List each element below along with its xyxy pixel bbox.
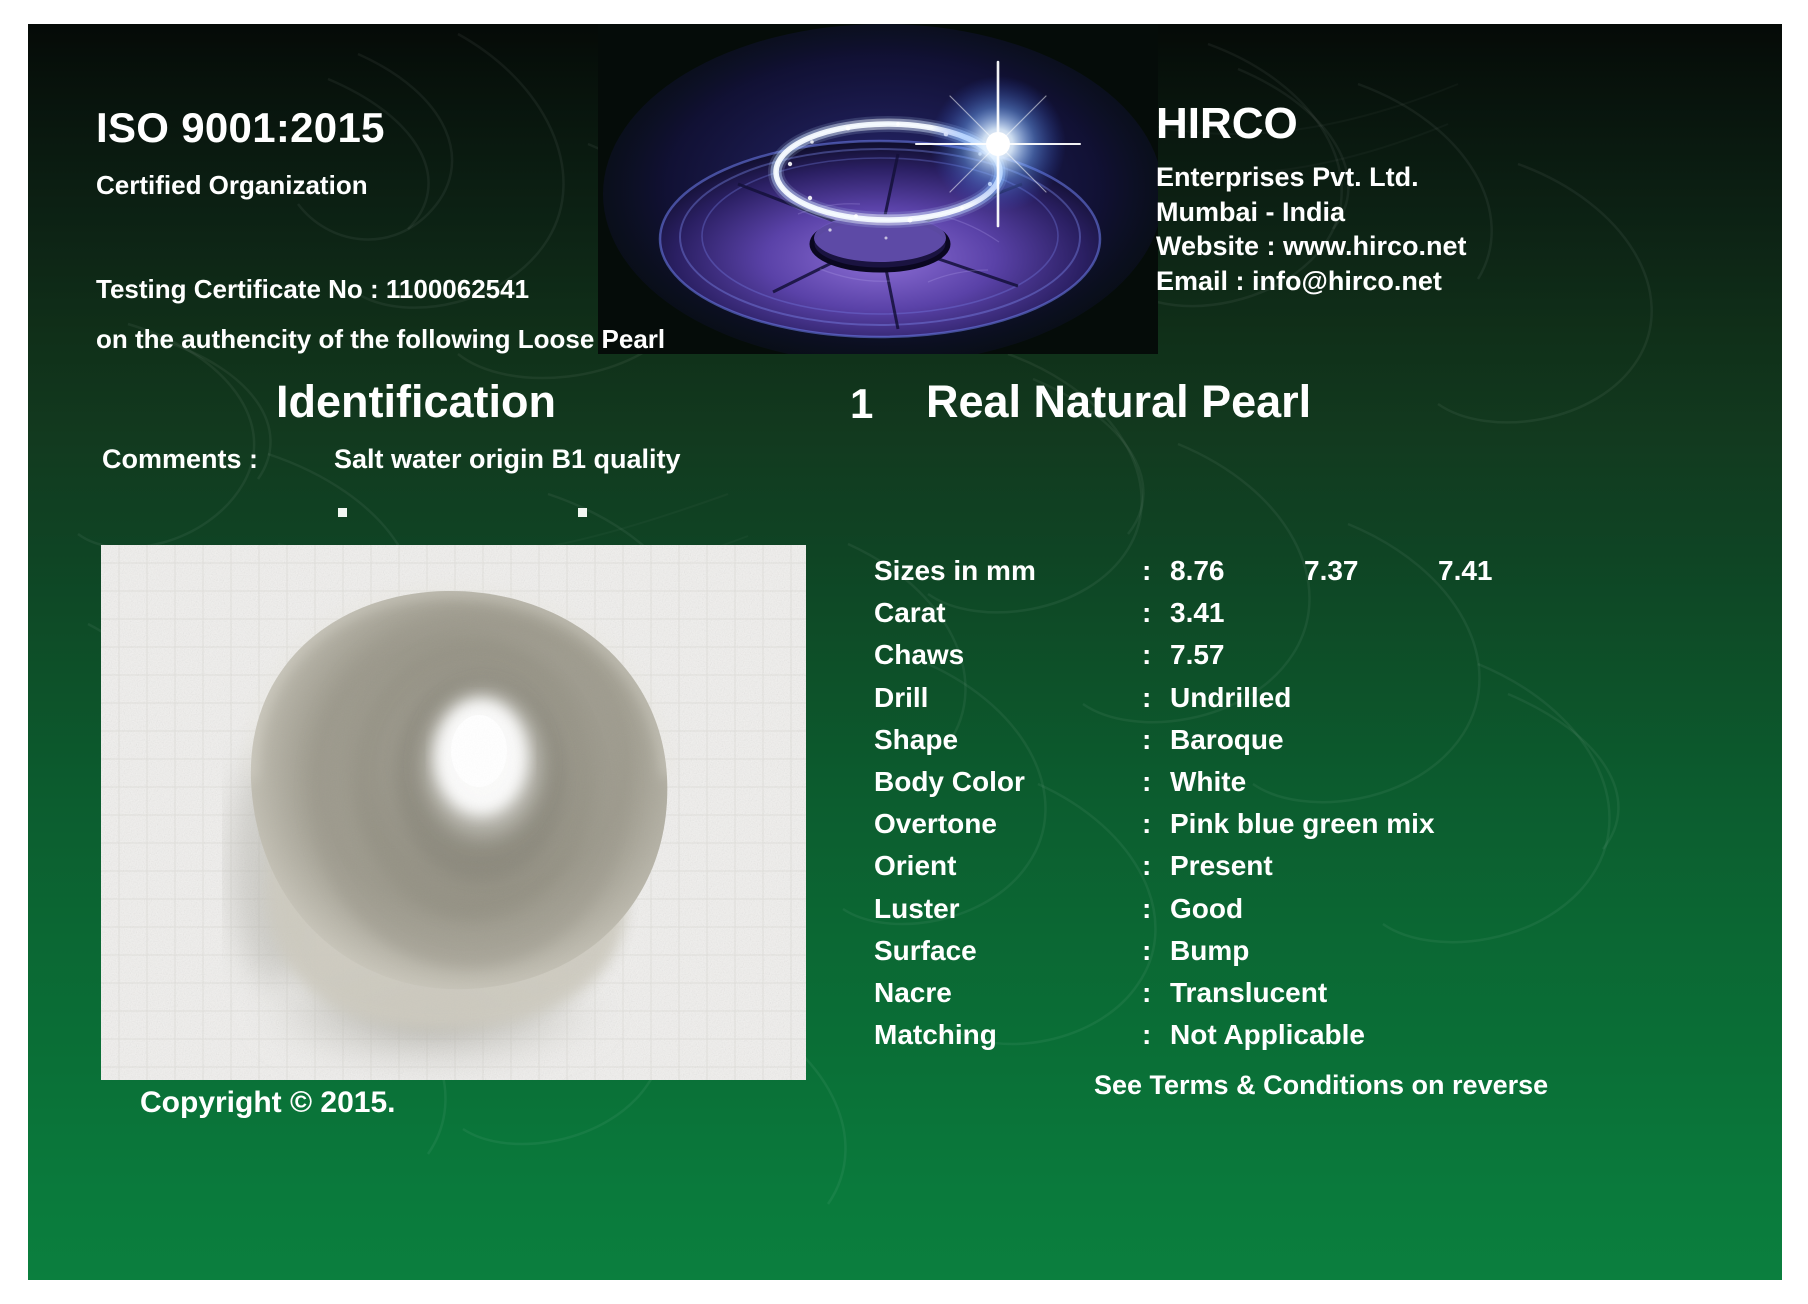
property-value-sizes: 8.76 7.37 7.41 [1170, 555, 1493, 587]
pearl-photograph [101, 545, 806, 1080]
property-colon: : [1142, 597, 1170, 629]
property-colon: : [1142, 766, 1170, 798]
property-colon: : [1142, 682, 1170, 714]
company-block: HIRCO Enterprises Pvt. Ltd. Mumbai - Ind… [1156, 102, 1467, 298]
comments-value: Salt water origin B1 quality [334, 444, 681, 475]
table-row: Luster : Good [874, 893, 1754, 935]
table-row: Nacre : Translucent [874, 977, 1754, 1019]
property-value: White [1170, 766, 1246, 798]
company-email[interactable]: Email : info@hirco.net [1156, 264, 1467, 299]
property-value: Good [1170, 893, 1243, 925]
size-length: 8.76 [1170, 555, 1304, 587]
property-colon: : [1142, 808, 1170, 840]
property-key: Carat [874, 597, 1142, 629]
company-legal-name: Enterprises Pvt. Ltd. [1156, 160, 1467, 195]
property-key: Luster [874, 893, 1142, 925]
certificate-card: ISO 9001:2015 Certified Organization Tes… [28, 24, 1782, 1280]
table-row: Carat : 3.41 [874, 597, 1754, 639]
property-colon: : [1142, 977, 1170, 1009]
property-value: Translucent [1170, 977, 1327, 1009]
hirco-logo-graphic [598, 24, 1158, 354]
comment-marker-dot-left [338, 508, 347, 517]
copyright-notice: Copyright © 2015. [140, 1086, 396, 1120]
table-row: Overtone : Pink blue green mix [874, 808, 1754, 850]
property-key: Chaws [874, 639, 1142, 671]
comments-label: Comments : [102, 444, 258, 475]
terms-and-conditions-note: See Terms & Conditions on reverse [1094, 1070, 1548, 1101]
authenticity-statement: on the authencity of the following Loose… [96, 324, 665, 355]
size-width: 7.37 [1304, 555, 1438, 587]
comment-marker-dot-right [578, 508, 587, 517]
identification-quantity: 1 [850, 380, 873, 428]
table-row: Matching : Not Applicable [874, 1019, 1754, 1061]
testing-certificate-number: Testing Certificate No : 1100062541 [96, 274, 529, 305]
company-name: HIRCO [1156, 102, 1467, 146]
property-value: Not Applicable [1170, 1019, 1365, 1051]
property-value: 7.57 [1170, 639, 1225, 671]
property-value: 3.41 [1170, 597, 1225, 629]
table-row: Shape : Baroque [874, 724, 1754, 766]
property-value: Present [1170, 850, 1273, 882]
identification-value: Real Natural Pearl [926, 376, 1311, 428]
identification-label: Identification [276, 376, 556, 428]
property-key: Orient [874, 850, 1142, 882]
property-colon: : [1142, 724, 1170, 756]
property-colon: : [1142, 893, 1170, 925]
table-row: Body Color : White [874, 766, 1754, 808]
property-value: Baroque [1170, 724, 1284, 756]
property-value: Pink blue green mix [1170, 808, 1435, 840]
property-key: Shape [874, 724, 1142, 756]
property-key: Drill [874, 682, 1142, 714]
company-website[interactable]: Website : www.hirco.net [1156, 229, 1467, 264]
property-colon: : [1142, 555, 1170, 587]
property-value: Undrilled [1170, 682, 1291, 714]
property-colon: : [1142, 935, 1170, 967]
pearl-properties-table: Sizes in mm : 8.76 7.37 7.41 Carat : 3.4… [874, 555, 1754, 1061]
property-key: Sizes in mm [874, 555, 1142, 587]
table-row: Surface : Bump [874, 935, 1754, 977]
property-key: Matching [874, 1019, 1142, 1051]
table-row: Orient : Present [874, 850, 1754, 892]
property-key: Surface [874, 935, 1142, 967]
size-depth: 7.41 [1438, 555, 1493, 587]
property-key: Nacre [874, 977, 1142, 1009]
property-colon: : [1142, 1019, 1170, 1051]
table-row: Chaws : 7.57 [874, 639, 1754, 681]
table-row: Drill : Undrilled [874, 682, 1754, 724]
property-key: Body Color [874, 766, 1142, 798]
property-value: Bump [1170, 935, 1249, 967]
company-location: Mumbai - India [1156, 195, 1467, 230]
property-colon: : [1142, 850, 1170, 882]
iso-title: ISO 9001:2015 [96, 104, 385, 152]
property-colon: : [1142, 639, 1170, 671]
property-key: Overtone [874, 808, 1142, 840]
table-row: Sizes in mm : 8.76 7.37 7.41 [874, 555, 1754, 597]
iso-subtitle: Certified Organization [96, 170, 368, 201]
